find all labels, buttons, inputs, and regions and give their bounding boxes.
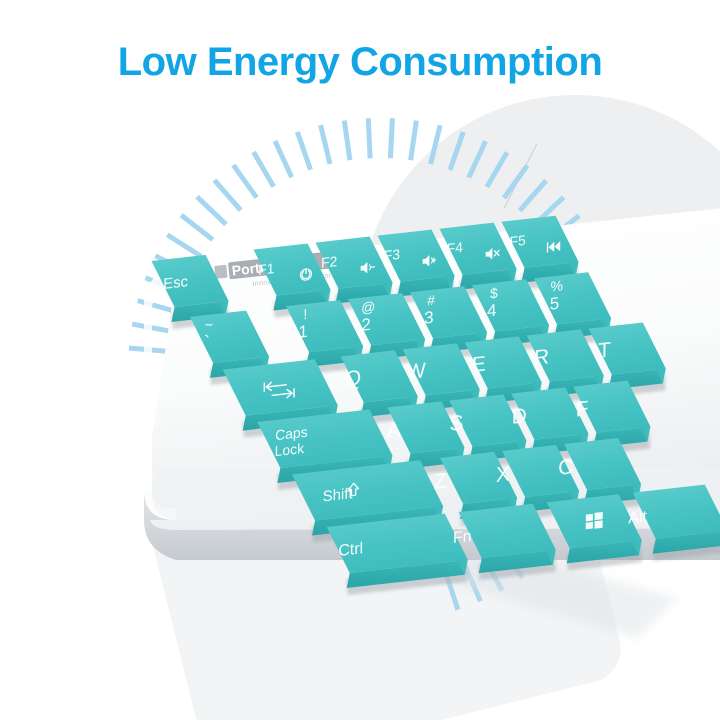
ray-tick (344, 121, 350, 161)
key-legend: X (496, 462, 510, 487)
key-legend: F (576, 397, 589, 422)
ray-tick (390, 118, 392, 158)
key-legend: # (427, 292, 435, 309)
key-legend: Alt (628, 507, 647, 527)
key-legend: @ (361, 298, 375, 316)
promo-image-stage: Low Energy Consumption (0, 0, 720, 720)
key-legend: ! (303, 306, 307, 322)
key-legend: E (472, 352, 486, 377)
key-legend: R (534, 345, 549, 370)
key-legend: 3 (424, 308, 434, 328)
key-legend: 5 (550, 294, 560, 314)
key-legend: ` (204, 332, 210, 353)
key-legend: 1 (298, 322, 308, 342)
ray-tick (411, 121, 417, 161)
key-legend: W (406, 359, 426, 384)
key-legend: Lock (275, 440, 306, 459)
key-legend: % (550, 277, 563, 294)
key-legend: C (558, 455, 573, 480)
key-legend: Fn (453, 527, 472, 547)
key-legend: F3 (384, 246, 401, 264)
key-legend: $ (490, 285, 498, 302)
key-legend: F5 (509, 232, 526, 250)
key-legend: Q (345, 366, 361, 391)
key-legend: F2 (321, 253, 338, 271)
key-legend: A (386, 418, 400, 443)
key-legend: 2 (361, 315, 371, 335)
key-ctrl[interactable]: Ctrl (327, 514, 468, 595)
key-legend: D (512, 404, 527, 429)
key-legend: F4 (447, 239, 464, 257)
key-legend: T (598, 338, 611, 363)
key-legend: Esc (163, 273, 188, 293)
key-legend: Shift (323, 485, 354, 505)
key-legend: Ctrl (338, 539, 363, 560)
key-legend: Z (434, 469, 447, 494)
keyboard-product-photo: Portronics ® Innovative. Digital. Portab… (118, 168, 720, 668)
key-legend: 4 (487, 301, 497, 321)
ray-tick (368, 118, 370, 158)
key-legend: S (449, 411, 463, 436)
page-title: Low Energy Consumption (0, 40, 720, 85)
key-legend: F1 (258, 260, 275, 278)
ray-tick (297, 132, 310, 170)
ray-tick (321, 125, 330, 164)
